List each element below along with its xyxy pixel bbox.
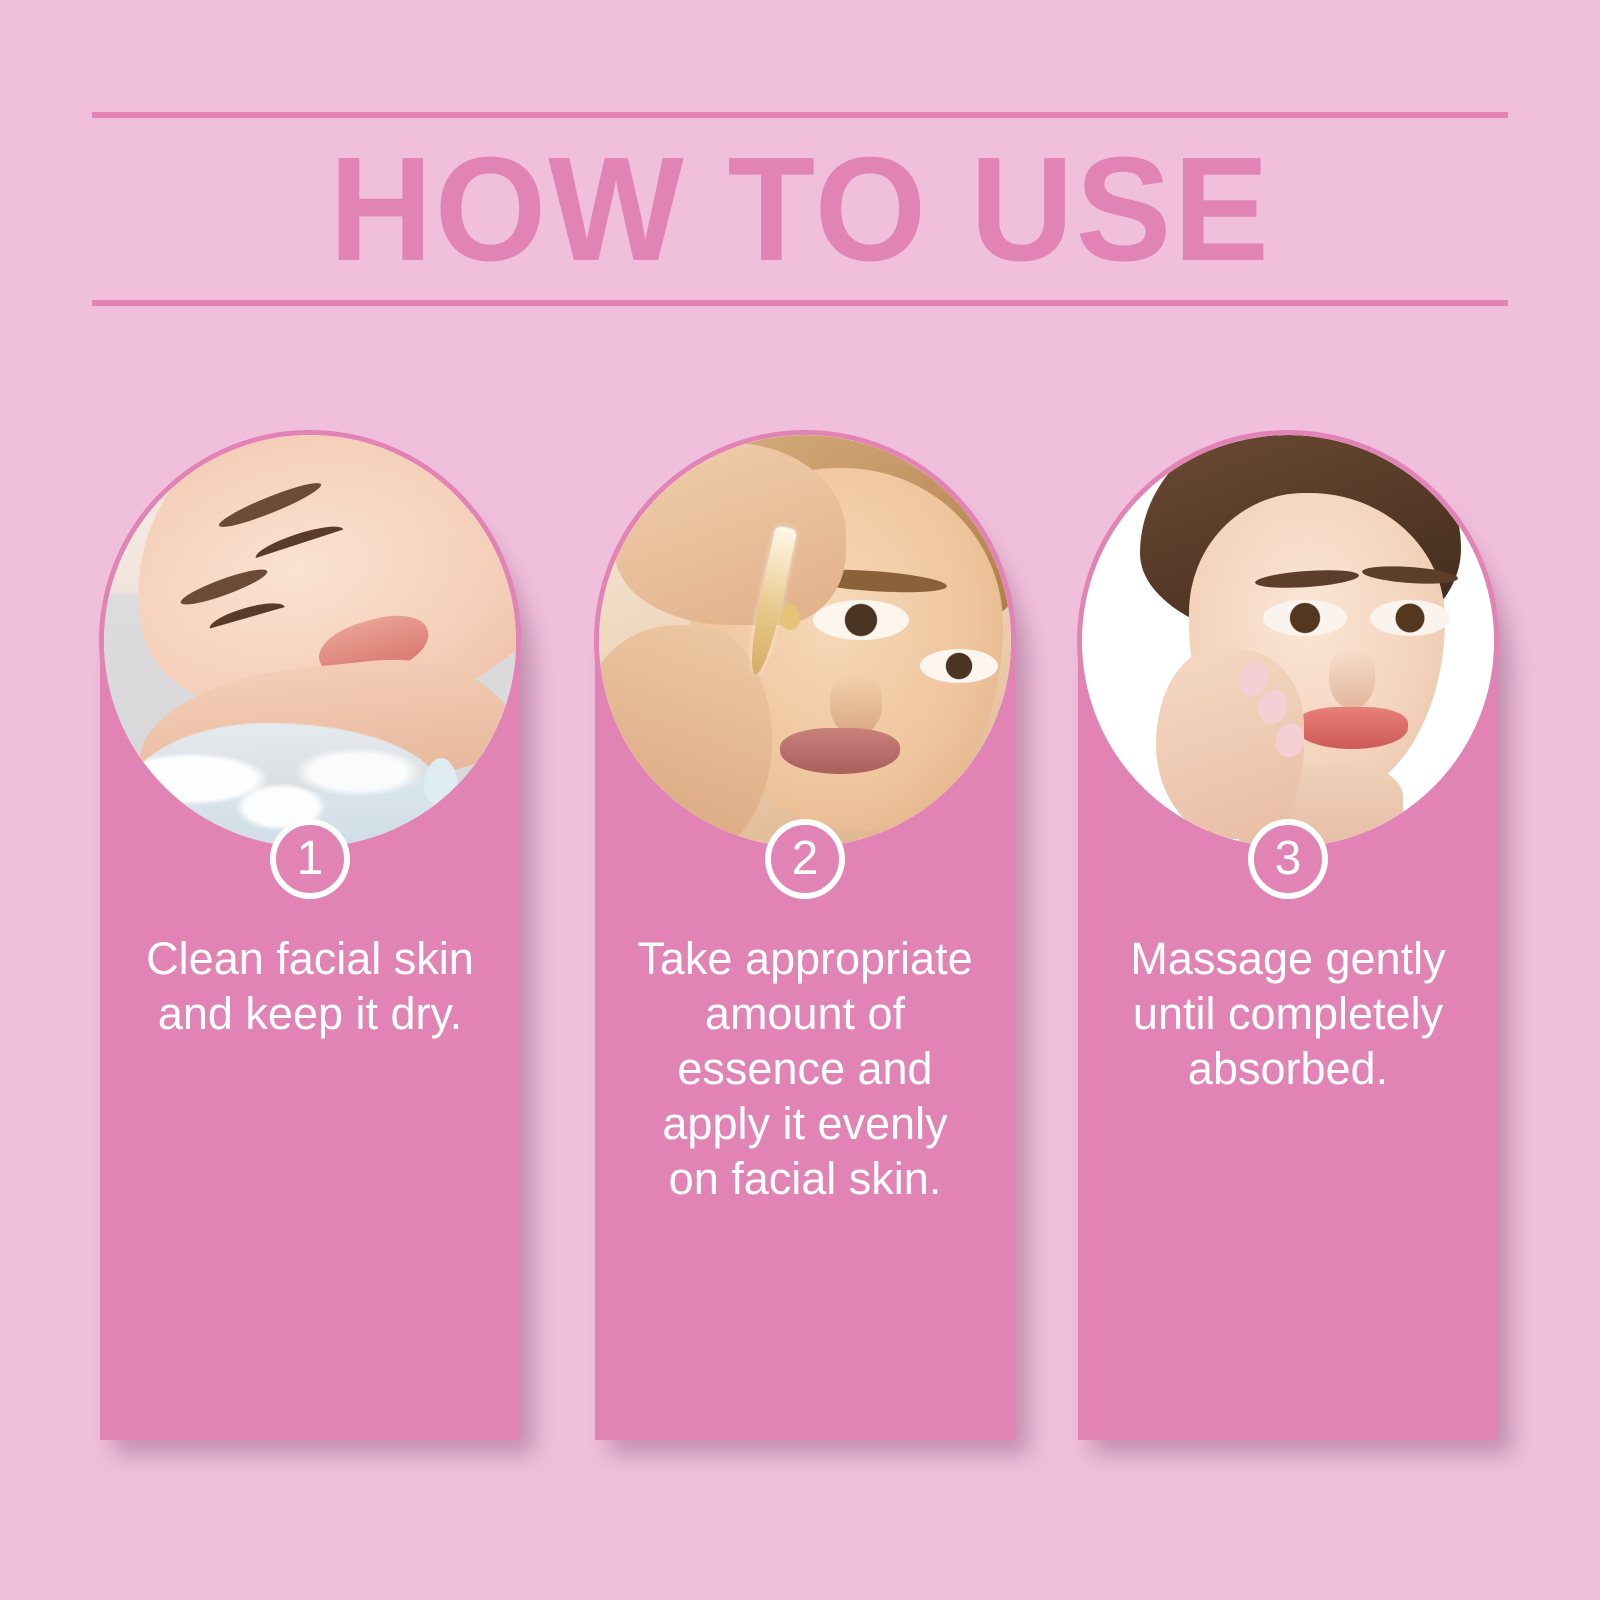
step-image-3 <box>1077 430 1499 852</box>
eye-shape <box>813 600 909 640</box>
arm-shape <box>615 443 846 624</box>
eye-shape <box>1370 600 1450 636</box>
step-image-2 <box>594 430 1016 852</box>
step-card-3[interactable]: 3 Massage gently until completely absorb… <box>1078 452 1498 1440</box>
step-image-1 <box>99 430 521 852</box>
arm-shape <box>599 625 772 847</box>
lips-shape <box>1296 707 1408 749</box>
step-caption-2: Take appropriate amount of essence and a… <box>611 932 999 1206</box>
step-card-1[interactable]: 1 Clean facial skin and keep it dry. <box>100 452 520 1440</box>
step-caption-1: Clean facial skin and keep it dry. <box>116 932 504 1042</box>
step-number-badge-3: 3 <box>1248 819 1328 899</box>
steps-row: 1 Clean facial skin and keep it dry. 2 T… <box>0 0 1600 1600</box>
step-card-2[interactable]: 2 Take appropriate amount of essence and… <box>595 452 1015 1440</box>
step-caption-3: Massage gently until completely absorbed… <box>1094 932 1482 1097</box>
step-number-badge-1: 1 <box>270 819 350 899</box>
eye-shape <box>1263 600 1347 636</box>
step-number-badge-2: 2 <box>765 819 845 899</box>
nose-shape <box>830 674 882 736</box>
lips-shape <box>780 728 900 774</box>
